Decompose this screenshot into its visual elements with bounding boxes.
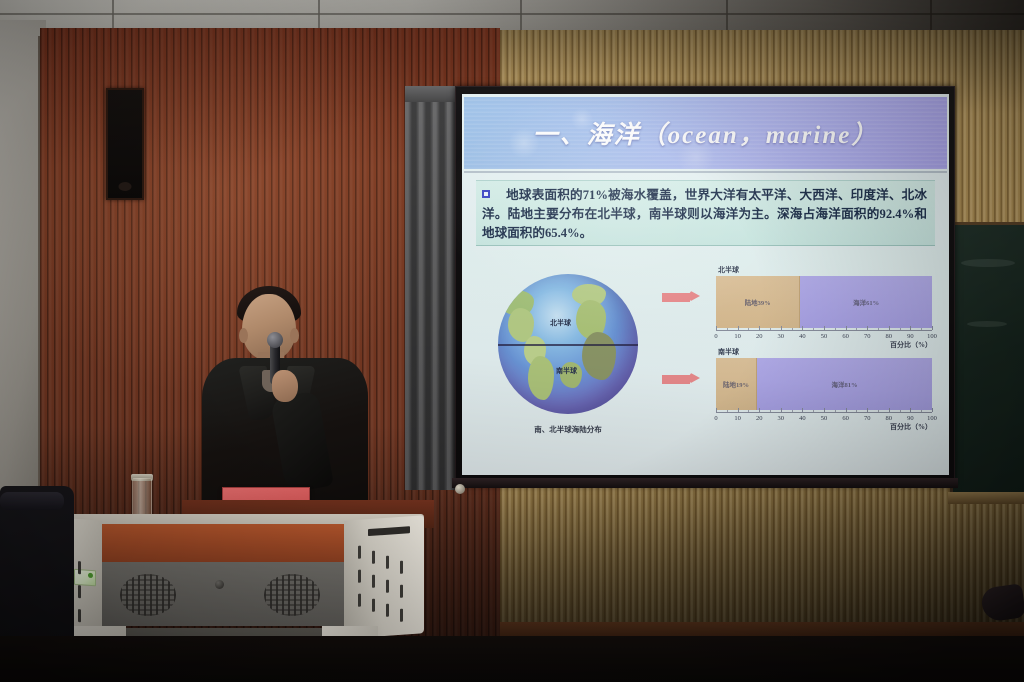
- globe-figure: 北半球 南半球 南、北半球海陆分布: [488, 274, 648, 449]
- bar-ocean-north: 海洋61%: [800, 276, 932, 328]
- bar-label-land-south: 陆地19%: [716, 379, 756, 389]
- microphone-head: [267, 332, 283, 348]
- window-curtain: [405, 86, 461, 490]
- slide-title-banner: 一、海洋（ocean，marine）: [464, 97, 947, 169]
- square-bullet-icon: [482, 190, 490, 198]
- lecture-hall-photo: 一、海洋（ocean，marine） 地球表面积的71%被海水覆盖，世界大洋有太…: [0, 0, 1024, 682]
- arrow-right-icon-bottom: [662, 372, 702, 384]
- projection-screen: 一、海洋（ocean，marine） 地球表面积的71%被海水覆盖，世界大洋有太…: [455, 86, 955, 486]
- globe-south-label: 南半球: [556, 366, 577, 376]
- lectern-front-panel: [98, 562, 348, 626]
- stacked-bar-south: 陆地19% 海洋81%: [716, 358, 932, 410]
- x-axis-title-south: 百分比（%）: [890, 422, 932, 432]
- chart-north-hemisphere: 北半球 陆地39% 海洋61% 0 10: [716, 276, 932, 342]
- lectern-control-strip: [368, 526, 410, 536]
- lectern-side-right: [344, 515, 424, 639]
- speaker-grille-right: [264, 574, 320, 616]
- bar-label-ocean-north: 海洋61%: [800, 297, 932, 307]
- slide-body-box: 地球表面积的71%被海水覆盖，世界大洋有太平洋、大西洋、印度洋、北冰洋。陆地主要…: [476, 180, 935, 246]
- wall-speaker-icon: [106, 88, 144, 200]
- blackboard: [950, 222, 1024, 494]
- floor: [0, 636, 1024, 682]
- chart-title-north: 北半球: [718, 265, 739, 275]
- bar-land-north: 陆地39%: [716, 276, 800, 328]
- bar-land-south: 陆地19%: [716, 358, 757, 410]
- hand: [272, 370, 298, 402]
- chart-south-hemisphere: 南半球 陆地19% 海洋81% 0 10: [716, 358, 932, 424]
- lectern-wood-panel: [98, 524, 348, 564]
- equator-line: [498, 344, 638, 346]
- chair-armrest: [0, 492, 64, 510]
- head: [242, 294, 296, 360]
- speaker-grille-left: [120, 574, 176, 616]
- slide-body-text: 地球表面积的71%被海水覆盖，世界大洋有太平洋、大西洋、印度洋、北冰洋。陆地主要…: [482, 188, 927, 240]
- bar-label-ocean-south: 海洋81%: [757, 379, 932, 389]
- bar-label-land-north: 陆地39%: [716, 297, 799, 307]
- chart-title-south: 南半球: [718, 347, 739, 357]
- globe-caption: 南、北半球海陆分布: [488, 424, 648, 435]
- curtain-rod: [405, 86, 461, 102]
- slide-title-text: 一、海洋（ocean，marine）: [533, 115, 879, 151]
- chalk-tray: [948, 492, 1024, 504]
- arrow-right-icon-top: [662, 290, 702, 302]
- title-divider: [464, 171, 947, 173]
- screen-bottom-bar: [452, 478, 958, 488]
- globe-north-label: 北半球: [550, 318, 571, 328]
- slide-content-area: 北半球 南半球 南、北半球海陆分布 北半球 陆: [462, 250, 949, 475]
- screen-pull-knob: [455, 484, 465, 494]
- slide-surface: 一、海洋（ocean，marine） 地球表面积的71%被海水覆盖，世界大洋有太…: [462, 94, 949, 475]
- slide-body-paragraph: 地球表面积的71%被海水覆盖，世界大洋有太平洋、大西洋、印度洋、北冰洋。陆地主要…: [482, 186, 927, 243]
- bar-ocean-south: 海洋81%: [757, 358, 932, 410]
- globe-icon: 北半球 南半球: [498, 274, 638, 414]
- lectern-lock-icon: [215, 580, 224, 589]
- stacked-bar-north: 陆地39% 海洋61%: [716, 276, 932, 328]
- x-axis-title-north: 百分比（%）: [890, 340, 932, 350]
